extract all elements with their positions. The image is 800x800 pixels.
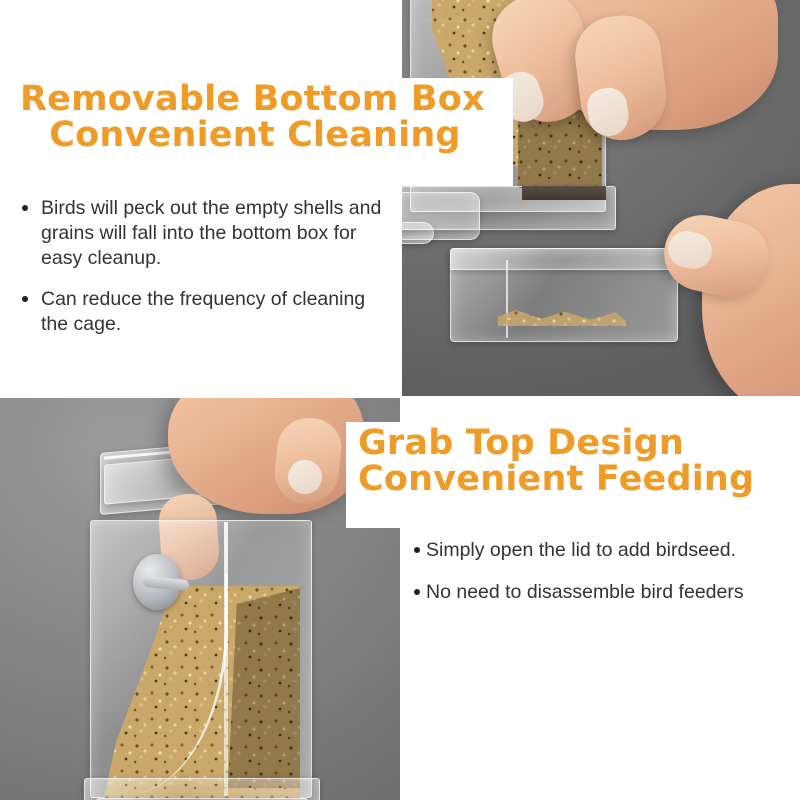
feeder-vertical-divider (224, 522, 228, 796)
bullet-list-bottom-right: Simply open the lid to add birdseed. No … (414, 538, 794, 605)
heading-line-1: Grab Top Design (358, 423, 684, 463)
tray-inner-divider (506, 260, 508, 338)
seed-fill-main-shadow (228, 588, 300, 788)
list-item: Can reduce the frequency of cleaning the… (14, 287, 386, 337)
bullet-text: Can reduce the frequency of cleaning the… (41, 287, 386, 337)
heading-line-1: Removable Bottom Box (20, 79, 485, 119)
feeder-base-dark-slot (522, 186, 606, 200)
bullet-dot-icon (414, 589, 420, 595)
fingernail-holding-lid (288, 460, 322, 494)
bullet-dot-icon (414, 547, 420, 553)
heading-line-2: Convenient Feeding (358, 459, 754, 499)
photo-backdrop-top-right (402, 0, 800, 396)
feeder-base-tray-bottom (84, 778, 320, 800)
heading-line-2: Convenient Cleaning (20, 118, 490, 154)
list-item: No need to disassemble bird feeders (414, 580, 794, 605)
heading-grab-top-design: Grab Top Design Convenient Feeding (358, 426, 754, 497)
photo-backdrop-bottom-left (0, 398, 400, 800)
bullet-dot-icon (22, 205, 28, 211)
list-item: Birds will peck out the empty shells and… (14, 196, 386, 270)
list-item: Simply open the lid to add birdseed. (414, 538, 794, 563)
bullet-text: Birds will peck out the empty shells and… (41, 196, 386, 270)
heading-removable-bottom-box: Removable Bottom Box Convenient Cleaning (20, 82, 490, 153)
bullet-text: Simply open the lid to add birdseed. (426, 538, 794, 563)
photo-panel-bottom-left (0, 398, 400, 800)
removable-bottom-tray-rim (450, 248, 678, 270)
bullet-list-top-left: Birds will peck out the empty shells and… (14, 196, 386, 337)
bullet-dot-icon (22, 296, 28, 302)
bullet-text: No need to disassemble bird feeders (426, 580, 794, 605)
photo-panel-top-right (402, 0, 800, 396)
infographic-canvas: Removable Bottom Box Convenient Cleaning… (0, 0, 800, 800)
